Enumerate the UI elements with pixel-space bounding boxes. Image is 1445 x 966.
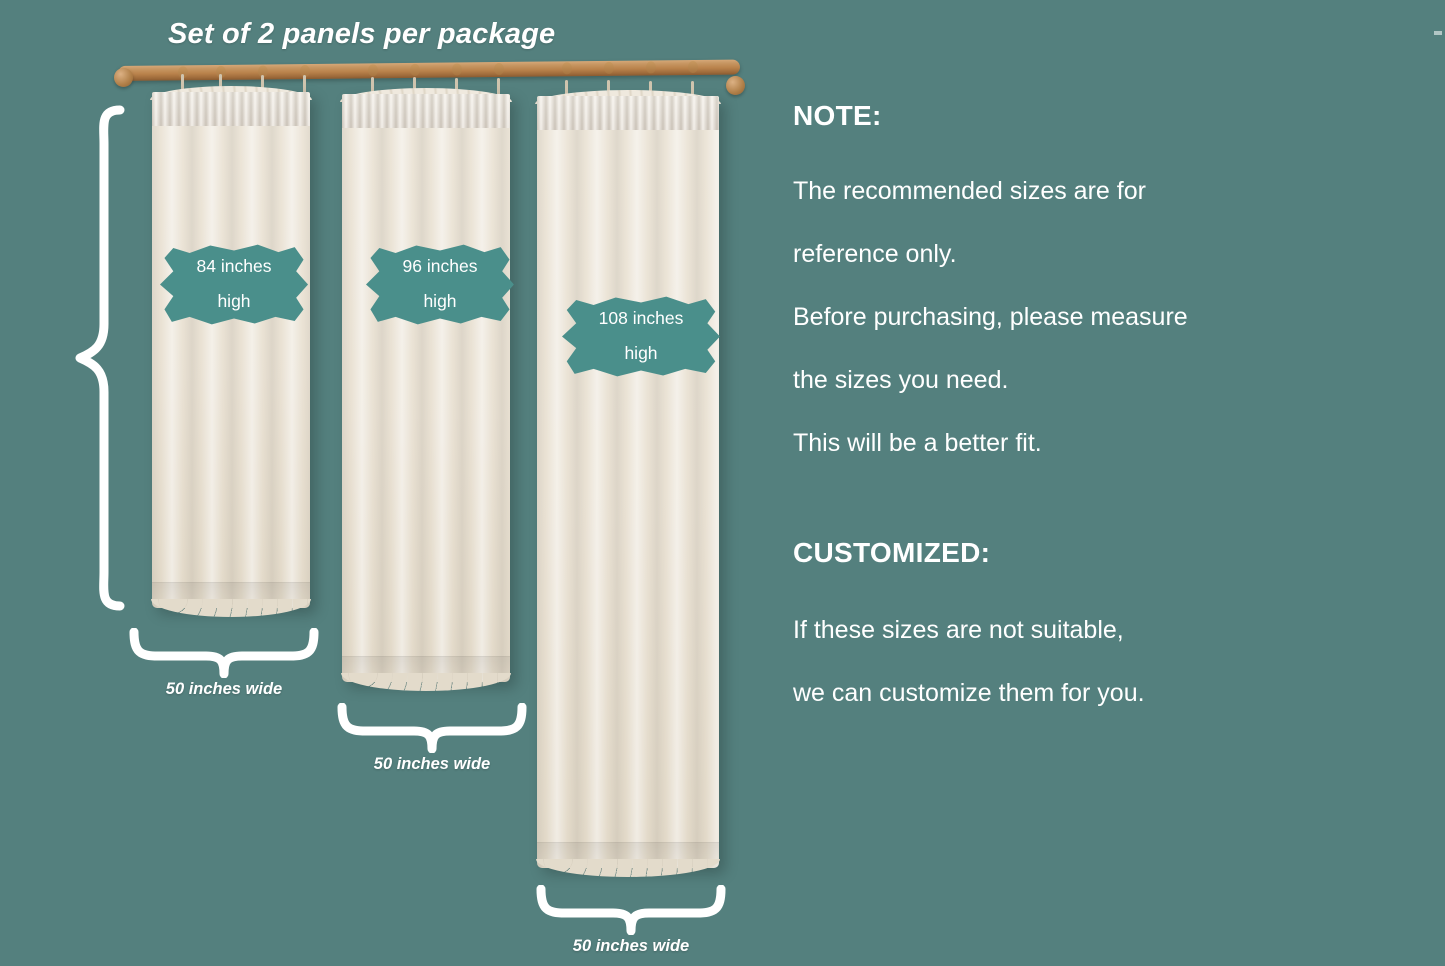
width-label: 50 inches wide [128,680,320,699]
height-badge-96: 96 inches high [366,243,514,326]
badge-line-1: 96 inches [382,258,498,276]
width-label: 50 inches wide [336,755,528,774]
badge-line-1: 108 inches [578,310,704,328]
pleat-header [342,94,510,128]
rod-ring [452,63,462,75]
note-heading: NOTE: [793,100,1393,132]
badge-line-2: high [176,293,292,311]
height-badge-84: 84 inches high [160,243,308,326]
note-line-2: reference only. [793,223,1393,286]
rod-ring [562,62,572,74]
curtain-panel-84 [152,92,310,608]
pleat-header [152,92,310,126]
width-brace-group-108: 50 inches wide [535,885,727,956]
badge-line-2: high [382,293,498,311]
pleat-header [537,96,719,130]
curtain-rod [118,59,740,81]
rod-ring [688,61,698,73]
info-text-column: NOTE: The recommended sizes are for refe… [793,100,1393,725]
height-brace [70,104,126,612]
height-badge-108: 108 inches high [562,295,720,378]
infographic-canvas: Set of 2 panels per package [0,0,1445,966]
width-brace-group-84: 50 inches wide [128,628,320,699]
note-line-5: This will be a better fit. [793,412,1393,475]
corner-artifact [1434,31,1442,35]
customized-heading: CUSTOMIZED: [793,537,1393,569]
badge-line-2: high [578,345,704,363]
width-label: 50 inches wide [535,937,727,956]
panel-hem-wave [341,673,511,691]
rod-finial-left-icon [114,68,133,87]
rod-ring [410,64,420,76]
note-line-1: The recommended sizes are for [793,160,1393,223]
rod-ring [604,62,614,74]
rod-ring [646,61,656,73]
rod-ring [368,64,378,76]
rod-finial-right-icon [726,76,745,95]
curtain-panel-96 [342,94,510,682]
page-title: Set of 2 panels per package [168,18,555,51]
curtain-panel-108 [537,96,719,868]
width-brace-group-96: 50 inches wide [336,703,528,774]
note-line-4: the sizes you need. [793,349,1393,412]
customized-line-2: we can customize them for you. [793,662,1393,725]
badge-line-1: 84 inches [176,258,292,276]
note-line-3: Before purchasing, please measure [793,286,1393,349]
customized-line-1: If these sizes are not suitable, [793,599,1393,662]
rod-ring [494,63,504,75]
panel-hem-wave [151,599,311,617]
panel-hem-wave [536,859,720,877]
